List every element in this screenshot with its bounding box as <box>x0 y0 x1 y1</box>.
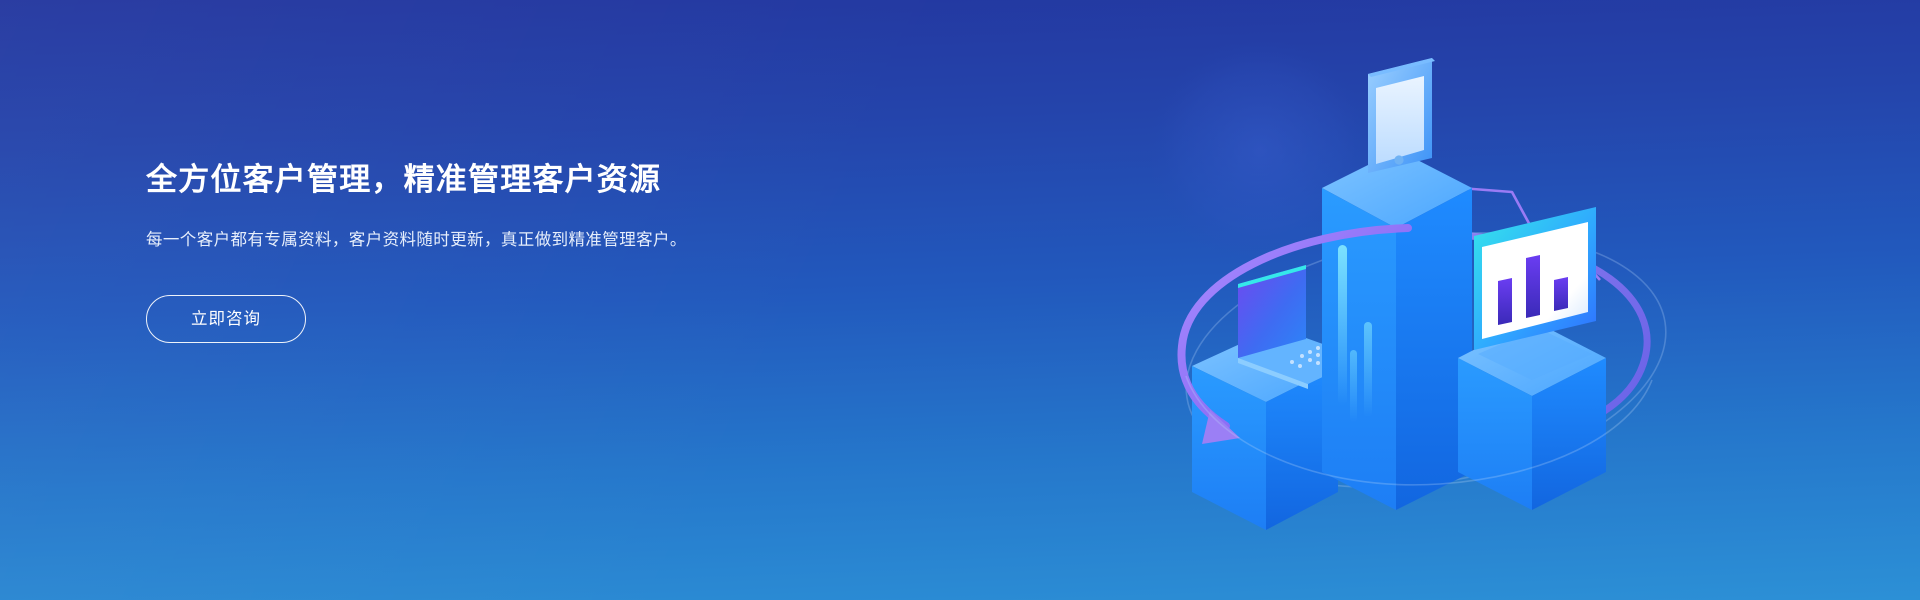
tablet-home-button <box>1394 155 1403 164</box>
pillar-stripe <box>1364 322 1372 417</box>
page-title: 全方位客户管理，精准管理客户资源 <box>146 160 786 200</box>
pillar-center <box>1322 150 1472 510</box>
monitor-bar-chart <box>1474 207 1596 380</box>
pillar-stripe <box>1338 245 1347 405</box>
hero-illustration <box>1140 40 1700 600</box>
tablet <box>1368 58 1435 173</box>
consult-now-button[interactable]: 立即咨询 <box>146 295 306 343</box>
hero-banner: 全方位客户管理，精准管理客户资源 每一个客户都有专属资料，客户资料随时更新，真正… <box>0 0 1920 600</box>
hero-copy-block: 全方位客户管理，精准管理客户资源 每一个客户都有专属资料，客户资料随时更新，真正… <box>146 160 786 343</box>
pillar-stripe <box>1350 350 1357 422</box>
hero-subtitle: 每一个客户都有专属资料，客户资料随时更新，真正做到精准管理客户。 <box>146 227 736 253</box>
